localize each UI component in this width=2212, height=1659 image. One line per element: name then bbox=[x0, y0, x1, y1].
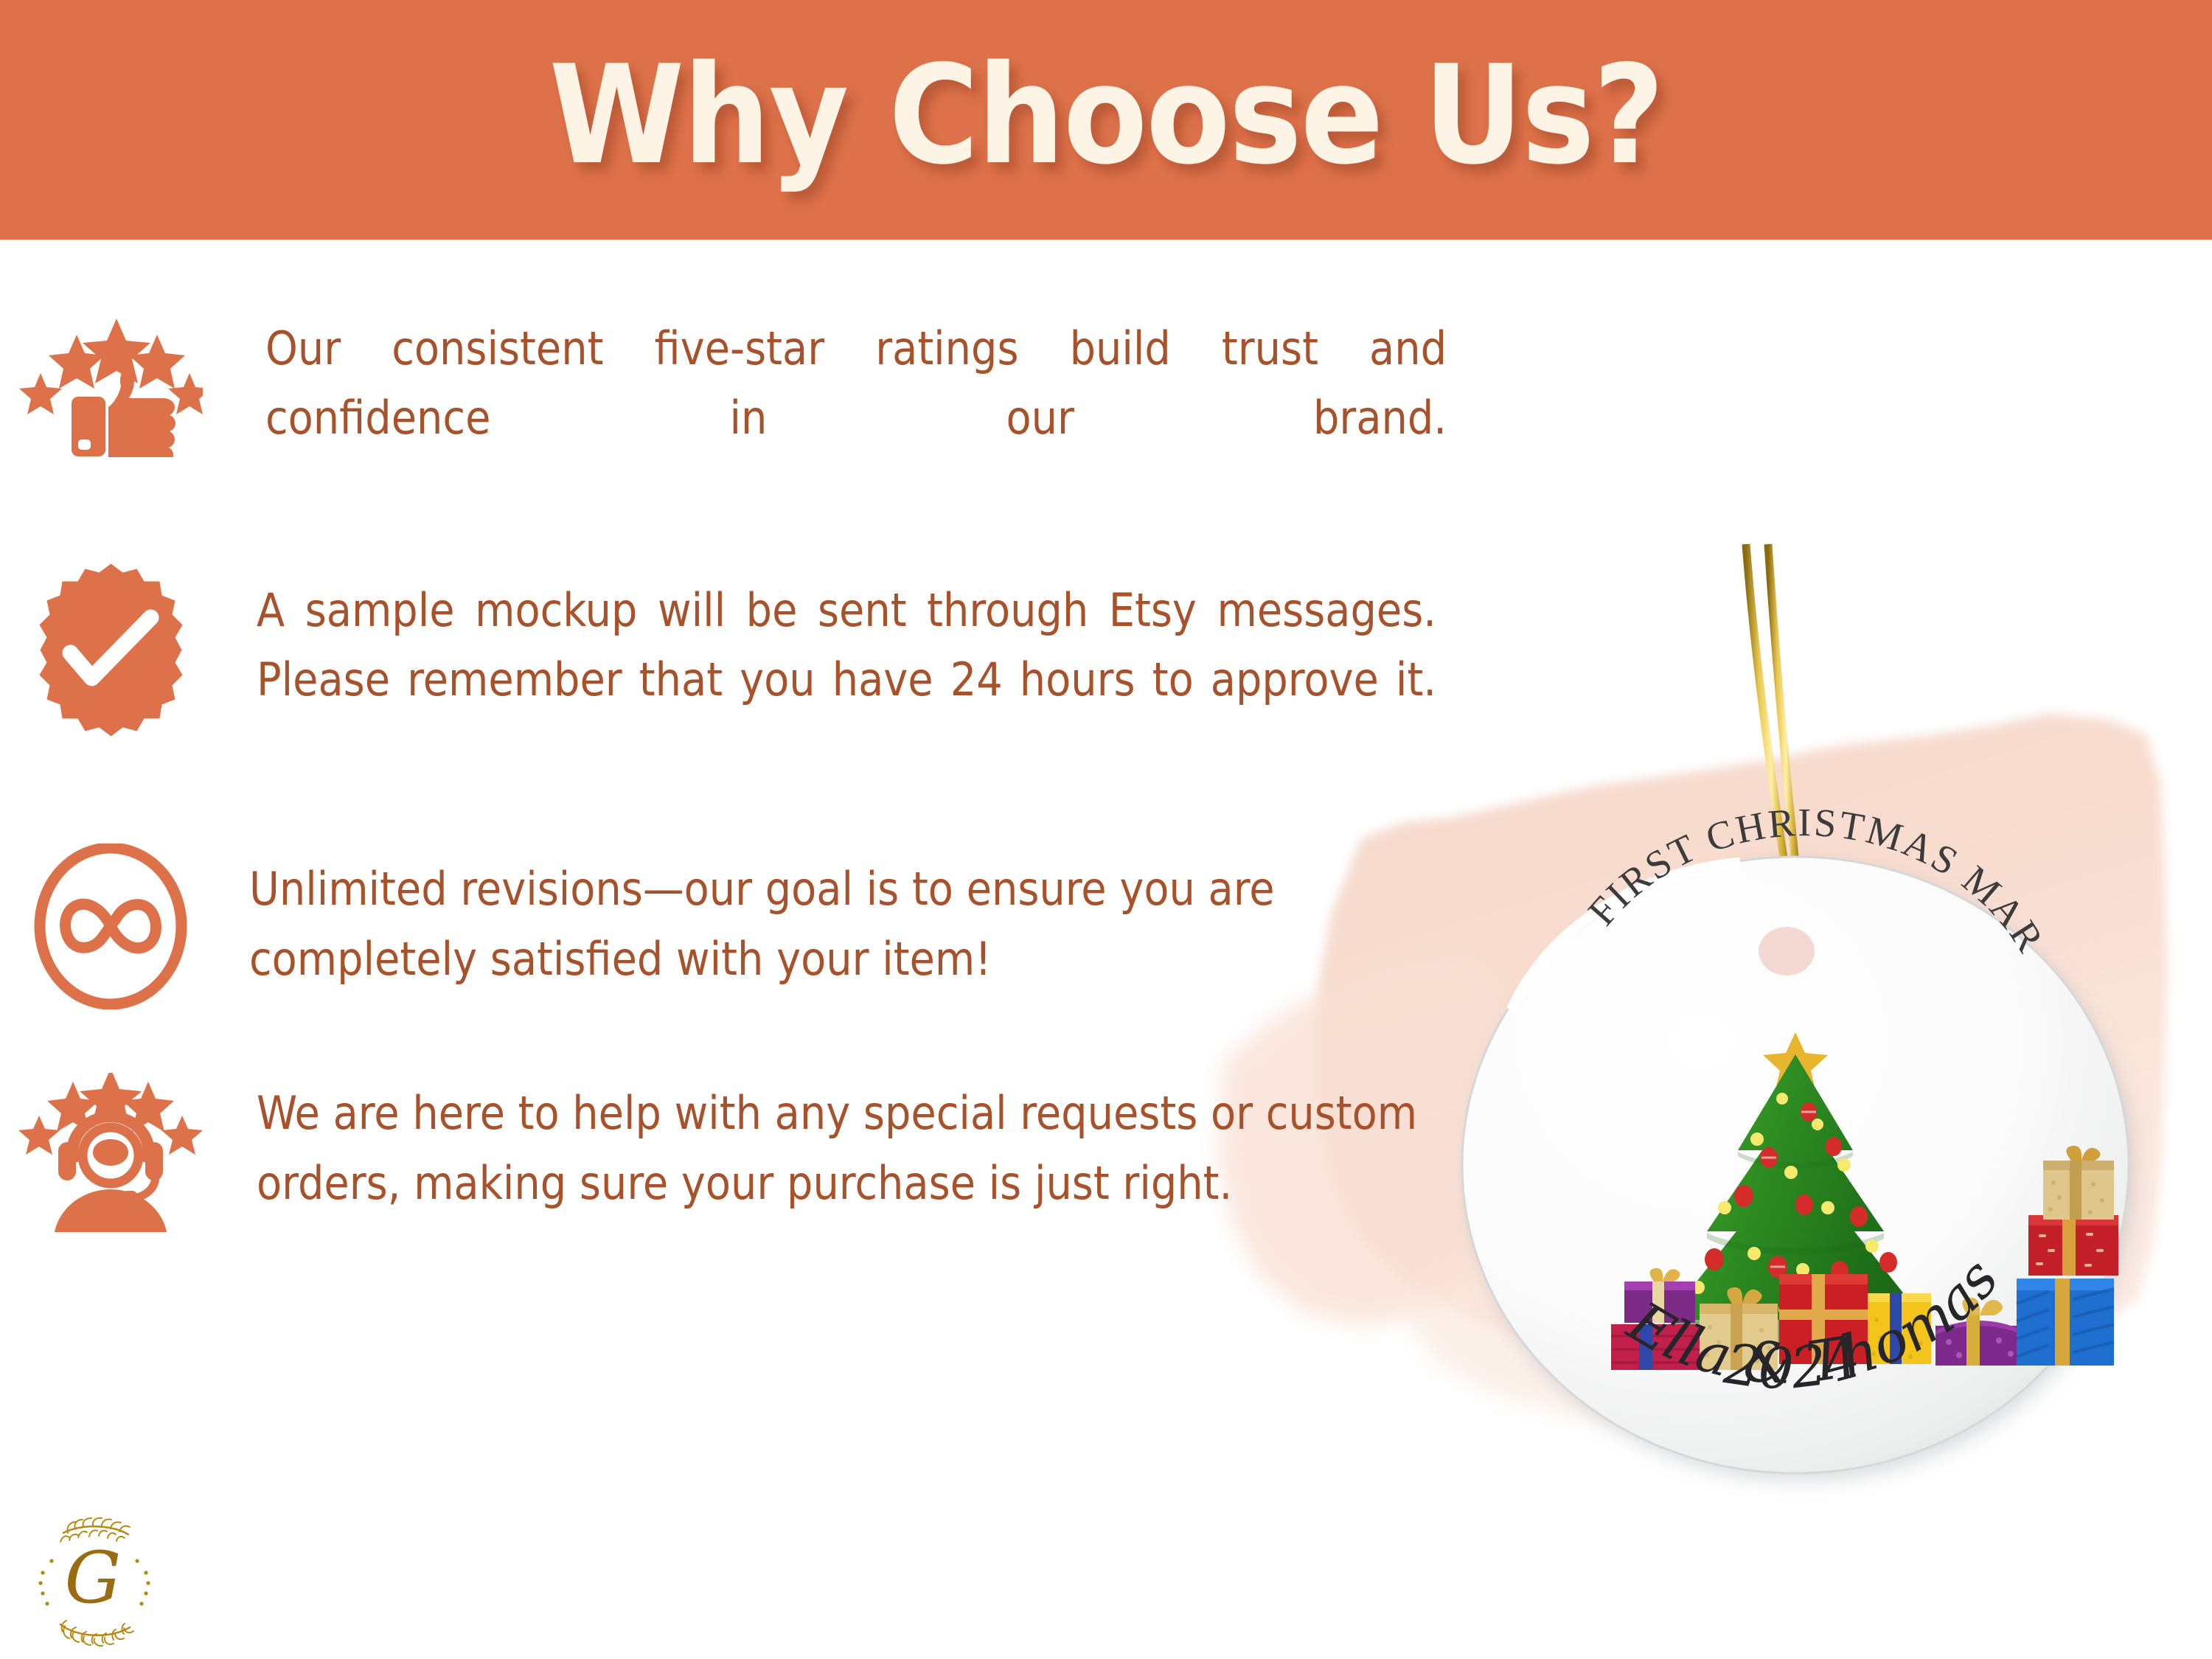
page-header: Why Choose Us? bbox=[0, 0, 2212, 240]
brand-logo: G bbox=[28, 1515, 161, 1648]
thumbs-up-five-stars-icon bbox=[0, 295, 221, 465]
feature-text-revisions: Unlimited revisions—our goal is to ensur… bbox=[221, 855, 1489, 993]
feature-item-support: We are here to help with any special req… bbox=[0, 1073, 1489, 1242]
ornament-product-image: FIRST CHRISTMAS MARRIED bbox=[1423, 538, 2168, 1512]
feature-text-support: We are here to help with any special req… bbox=[221, 1079, 1489, 1217]
feature-text-ratings: Our consistent five-star ratings build t… bbox=[221, 314, 1489, 523]
feature-item-ratings: Our consistent five-star ratings build t… bbox=[0, 295, 1489, 523]
page-title: Why Choose Us? bbox=[549, 47, 1663, 184]
feature-list: Our consistent five-star ratings build t… bbox=[0, 295, 1489, 1287]
customer-support-agent-stars-icon bbox=[0, 1073, 221, 1242]
feature-item-mockup: A sample mockup will be sent through Ets… bbox=[0, 566, 1489, 785]
feature-item-revisions: Unlimited revisions—our goal is to ensur… bbox=[0, 841, 1489, 1011]
infinity-circle-icon bbox=[0, 841, 221, 1011]
verified-check-badge-icon bbox=[0, 566, 221, 735]
logo-monogram: G bbox=[65, 1537, 122, 1619]
feature-text-mockup: A sample mockup will be sent through Ets… bbox=[221, 576, 1489, 785]
ornament-year-text: 2024 bbox=[1719, 1324, 1867, 1402]
